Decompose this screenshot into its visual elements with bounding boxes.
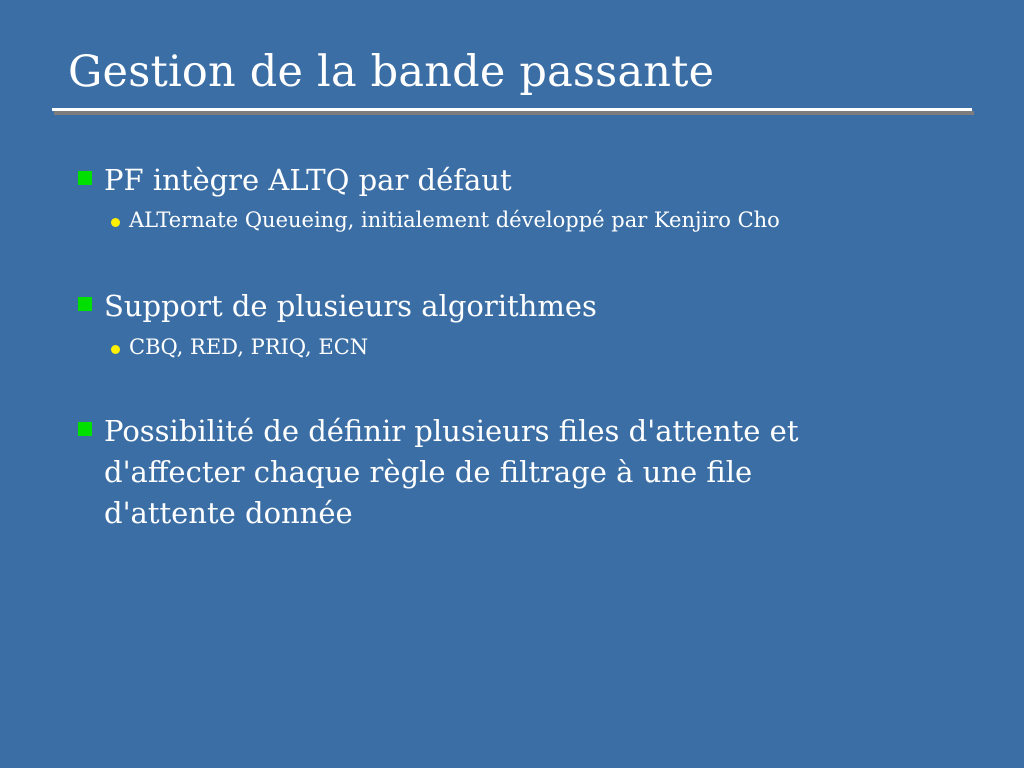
list-item: PF intègre ALTQ par défaut bbox=[78, 160, 978, 201]
square-bullet-icon bbox=[78, 297, 92, 311]
presentation-slide: Gestion de la bande passante PF intègre … bbox=[0, 0, 1024, 768]
slide-body: PF intègre ALTQ par défaut ALTernate Que… bbox=[78, 160, 978, 534]
bullet-level1-text: PF intègre ALTQ par défaut bbox=[104, 160, 512, 201]
bullet-group-1: PF intègre ALTQ par défaut ALTernate Que… bbox=[78, 160, 978, 234]
bullet-group-2: Support de plusieurs algorithmes CBQ, RE… bbox=[78, 286, 978, 360]
slide-title-block: Gestion de la bande passante bbox=[52, 48, 974, 96]
dot-bullet-icon bbox=[111, 345, 120, 354]
bullet-level2-text: CBQ, RED, PRIQ, ECN bbox=[129, 334, 368, 361]
list-item: Support de plusieurs algorithmes bbox=[78, 286, 978, 327]
list-item: CBQ, RED, PRIQ, ECN bbox=[78, 334, 978, 361]
page-title: Gestion de la bande passante bbox=[68, 48, 974, 96]
square-bullet-icon bbox=[78, 422, 92, 436]
square-bullet-icon bbox=[78, 171, 92, 185]
dot-bullet-icon bbox=[111, 218, 120, 227]
bullet-level1-text: Support de plusieurs algorithmes bbox=[104, 286, 597, 327]
bullet-level1-text: Possibilité de définir plusieurs files d… bbox=[104, 411, 886, 535]
bullet-level2-text: ALTernate Queueing, initialement dévelop… bbox=[129, 207, 780, 234]
title-underline-shadow bbox=[54, 111, 974, 115]
bullet-group-3: Possibilité de définir plusieurs files d… bbox=[78, 411, 978, 535]
list-item: Possibilité de définir plusieurs files d… bbox=[78, 411, 978, 535]
list-item: ALTernate Queueing, initialement dévelop… bbox=[78, 207, 978, 234]
